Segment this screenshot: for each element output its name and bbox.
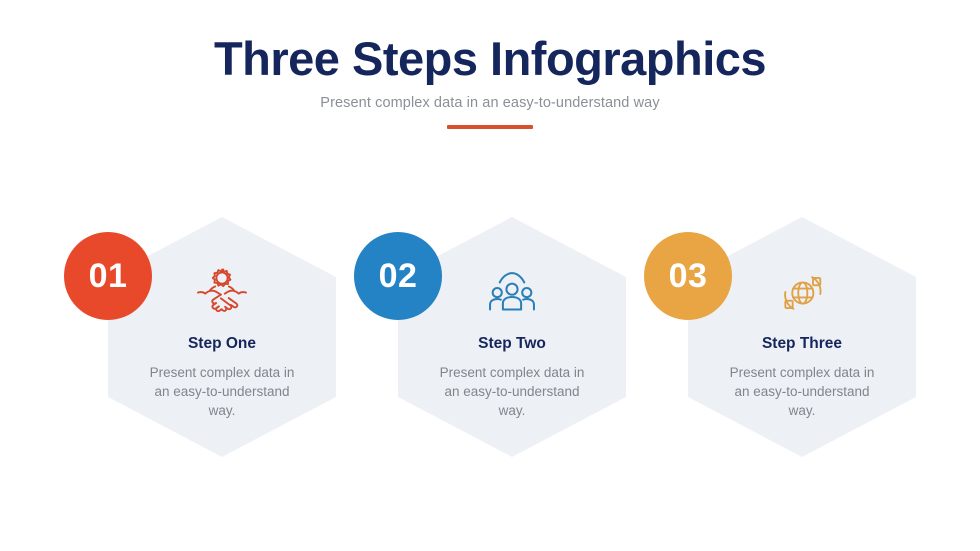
step-title-3: Step Three (688, 335, 916, 354)
step-description-1: Present complex data in an easy-to-under… (147, 363, 297, 420)
page-subtitle: Present complex data in an easy-to-under… (0, 95, 980, 111)
step-number-label: 03 (669, 259, 708, 293)
step-number-badge-2: 02 (354, 232, 442, 320)
step-title-2: Step Two (398, 335, 626, 354)
step-description-3: Present complex data in an easy-to-under… (727, 363, 877, 420)
page-title: Three Steps Infographics (0, 34, 980, 83)
step-text-block-3: Step Three Present complex data in an ea… (688, 335, 916, 420)
step-title-1: Step One (108, 335, 336, 354)
step-description-2: Present complex data in an easy-to-under… (437, 363, 587, 420)
step-text-block-1: Step One Present complex data in an easy… (108, 335, 336, 420)
slide-header: Three Steps Infographics Present complex… (0, 34, 980, 129)
steps-row: 01 (0, 215, 980, 475)
accent-divider (447, 125, 533, 129)
step-number-badge-1: 01 (64, 232, 152, 320)
globe-orbit-icon (768, 259, 836, 327)
step-number-label: 01 (89, 259, 128, 293)
step-card-3[interactable]: 03 Step Three Present complex data in an… (624, 215, 916, 475)
infographic-slide: Three Steps Infographics Present complex… (0, 0, 980, 551)
people-group-icon (478, 259, 546, 327)
step-text-block-2: Step Two Present complex data in an easy… (398, 335, 626, 420)
step-number-badge-3: 03 (644, 232, 732, 320)
handshake-gear-icon (188, 259, 256, 327)
step-card-2[interactable]: 02 Step Two Present complex data in an e… (334, 215, 626, 475)
step-number-label: 02 (379, 259, 418, 293)
step-card-1[interactable]: 01 (44, 215, 336, 475)
